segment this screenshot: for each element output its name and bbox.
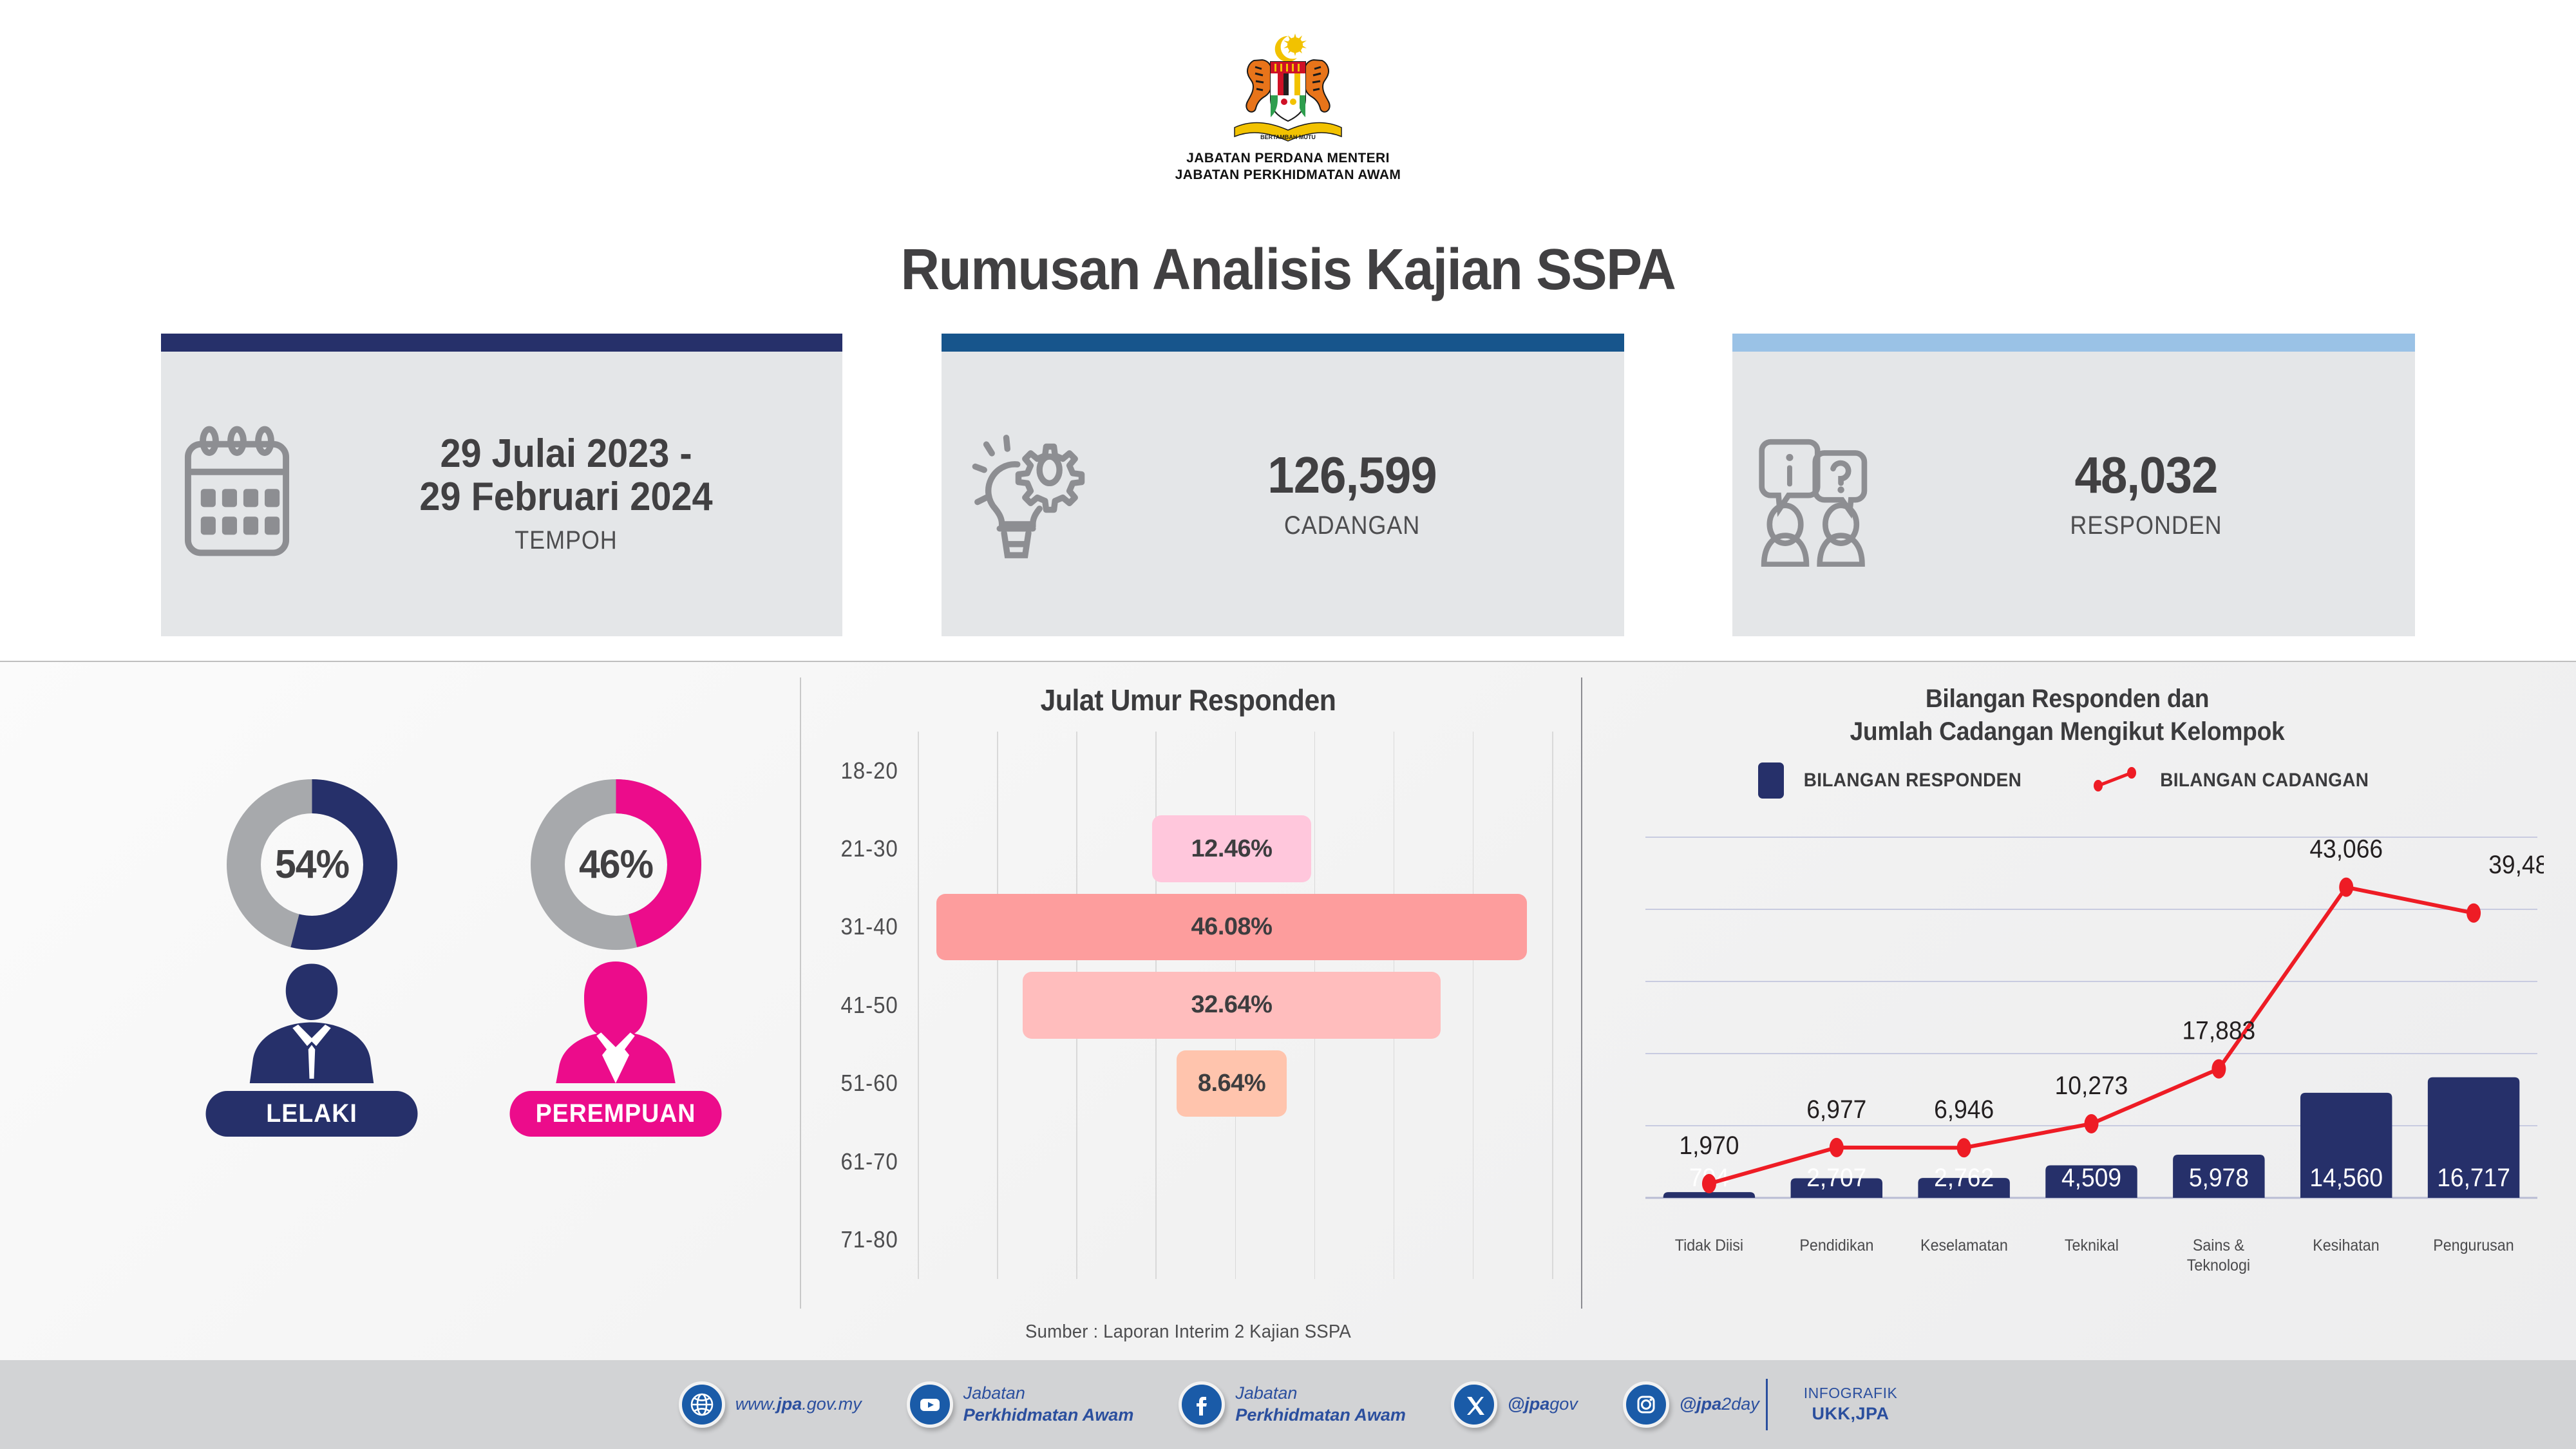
line-value-label: 17,883 (2182, 1017, 2255, 1046)
age-bar-track (911, 1122, 1552, 1200)
horizontal-divider (0, 661, 2576, 662)
age-chart-row: 18-20 (824, 732, 1552, 810)
line-data-point (2085, 1114, 2099, 1133)
bar-value-label: 16,717 (2437, 1164, 2510, 1193)
globe-icon[interactable] (679, 1381, 725, 1428)
age-bar: 46.08% (936, 894, 1527, 960)
gender-male-label: LELAKI (206, 1091, 418, 1137)
footer-youtube-line2: Perkhidmatan Awam (963, 1405, 1134, 1425)
age-bar-track (911, 732, 1552, 810)
age-chart-row: 61-70 (824, 1122, 1552, 1200)
line-data-point (1702, 1174, 1716, 1193)
legend-item-responden: BILANGAN RESPONDEN (1758, 762, 2030, 799)
footer-item-facebook[interactable]: Jabatan Perkhidmatan Awam (1179, 1381, 1406, 1428)
footer-youtube-line1: Jabatan (963, 1383, 1134, 1405)
line-value-label: 6,977 (1806, 1095, 1866, 1124)
gender-female-label: PEREMPUAN (510, 1091, 722, 1137)
age-category-label: 21-30 (831, 835, 911, 862)
category-label: Kesihatan (2287, 1236, 2405, 1275)
legend-line-marker-icon (2092, 766, 2141, 795)
line-data-point (2211, 1059, 2226, 1079)
line-value-label: 10,273 (2055, 1072, 2128, 1101)
footer-credit-line2: UKK,JPA (1804, 1403, 1898, 1425)
page-title: Rumusan Analisis Kajian SSPA (90, 237, 2486, 303)
age-bar-track: 12.46% (911, 810, 1552, 887)
age-bar: 8.64% (1177, 1050, 1287, 1117)
age-chart-rows: 18-2021-3012.46%31-4046.08%41-5032.64%51… (824, 732, 1552, 1279)
header-crest-block: BERTAMBAH MUTU JABATAN PERDANA MENTERI J… (0, 31, 2576, 183)
line-data-point (1957, 1139, 1971, 1158)
legend-label-responden: BILANGAN RESPONDEN (1804, 770, 2022, 791)
card-accent-bar (161, 334, 842, 352)
summary-cards: 29 Julai 2023 - 29 Februari 2024 TEMPOH (161, 334, 2415, 636)
org-name-line1: JABATAN PERDANA MENTERI (1186, 150, 1390, 167)
youtube-icon[interactable] (907, 1381, 953, 1428)
card-accent-bar (942, 334, 1624, 352)
category-label: Pengurusan (2414, 1236, 2533, 1275)
line-value-label: 39,484 (2488, 851, 2544, 880)
footer-item-instagram[interactable]: @jpa2day (1623, 1381, 1759, 1428)
card-label: CADANGAN (1117, 511, 1586, 540)
card-responden: 48,032 RESPONDEN (1732, 334, 2415, 636)
facebook-icon[interactable] (1179, 1381, 1225, 1428)
infographic-canvas: BERTAMBAH MUTU JABATAN PERDANA MENTERI J… (0, 0, 2576, 1449)
age-bar: 12.46% (1152, 815, 1312, 882)
donut-male-percent: 54% (231, 779, 393, 950)
gender-female-block: 46% PEREMPUAN (487, 779, 744, 1137)
age-bar-track: 32.64% (911, 966, 1552, 1044)
gridline (1552, 732, 1553, 1279)
footer-divider (1766, 1379, 1768, 1430)
age-chart-row: 71-80 (824, 1200, 1552, 1278)
card-label: TEMPOH (328, 526, 804, 555)
gender-male-block: 54% LELAKI (183, 779, 440, 1137)
footer-website-text: www.jpa.gov.my (735, 1394, 862, 1416)
category-label: Keselamatan (1905, 1236, 2023, 1275)
category-label: Pendidikan (1777, 1236, 1896, 1275)
svg-text:BERTAMBAH MUTU: BERTAMBAH MUTU (1260, 134, 1316, 140)
age-chart-row: 21-3012.46% (824, 810, 1552, 887)
source-note: Sumber : Laporan Interim 2 Kajian SSPA (842, 1321, 1534, 1343)
gender-breakdown: 54% LELAKI (155, 779, 773, 1137)
donut-chart-female: 46% (531, 779, 701, 950)
age-chart-title: Julat Umur Responden (850, 683, 1527, 717)
donut-chart-male: 54% (227, 779, 397, 950)
people-speech-bubbles-icon (1744, 422, 1889, 567)
legend-item-cadangan: BILANGAN CADANGAN (2092, 766, 2376, 795)
age-category-label: 61-70 (831, 1148, 911, 1175)
card-cadangan: 126,599 CADANGAN (942, 334, 1624, 636)
card-value: 48,032 (1907, 448, 2385, 503)
bar-value-label: 5,978 (2189, 1164, 2249, 1193)
card-value-line1: 29 Julai 2023 - (320, 433, 812, 476)
footer-item-twitter[interactable]: @jpagov (1451, 1381, 1578, 1428)
bar-value-label: 2,707 (1806, 1164, 1866, 1193)
vertical-divider-right (1581, 677, 1582, 1309)
combo-title-line1: Bilangan Responden dan (1624, 683, 2510, 715)
footer-item-website[interactable]: www.jpa.gov.my (679, 1381, 862, 1428)
age-bar-track: 8.64% (911, 1045, 1552, 1122)
legend-swatch-bar (1758, 762, 1784, 799)
line-data-point (2339, 878, 2353, 897)
x-twitter-icon[interactable] (1451, 1381, 1497, 1428)
card-tempoh: 29 Julai 2023 - 29 Februari 2024 TEMPOH (161, 334, 842, 636)
bar-value-label: 4,509 (2061, 1164, 2121, 1193)
footer-instagram-text: @jpa2day (1680, 1394, 1759, 1416)
line-data-point (2467, 904, 2481, 923)
calendar-icon (173, 425, 301, 563)
age-chart-row: 31-4046.08% (824, 888, 1552, 966)
bar-value-label: 2,762 (1934, 1164, 1994, 1193)
age-bar: 32.64% (1023, 972, 1441, 1038)
footer-credit: INFOGRAFIK UKK,JPA (1804, 1384, 1898, 1426)
instagram-icon[interactable] (1623, 1381, 1669, 1428)
age-category-label: 31-40 (831, 913, 911, 940)
footer-item-youtube[interactable]: Jabatan Perkhidmatan Awam (907, 1381, 1134, 1428)
age-chart-row: 41-5032.64% (824, 966, 1552, 1044)
age-bar-track: 46.08% (911, 888, 1552, 966)
footer-twitter-text: @jpagov (1508, 1394, 1578, 1416)
age-category-label: 41-50 (831, 992, 911, 1019)
malaysia-coat-of-arms-icon: BERTAMBAH MUTU (1207, 31, 1368, 150)
age-range-chart: Julat Umur Responden 18-2021-3012.46%31-… (824, 683, 1552, 1288)
female-avatar-icon (548, 956, 683, 1087)
bar-value-label: 14,560 (2309, 1164, 2383, 1193)
male-avatar-icon (244, 956, 379, 1087)
org-name-line2: JABATAN PERKHIDMATAN AWAM (1175, 167, 1401, 184)
vertical-divider-left (800, 677, 801, 1309)
combo-chart-legend: BILANGAN RESPONDEN BILANGAN CADANGAN (1591, 762, 2544, 799)
donut-female-percent: 46% (535, 779, 697, 950)
footer-facebook-text: Jabatan Perkhidmatan Awam (1235, 1383, 1406, 1426)
line-value-label: 43,066 (2309, 835, 2383, 864)
footer-credit-line1: INFOGRAFIK (1804, 1384, 1898, 1403)
category-label: Sains & Teknologi (2159, 1236, 2278, 1275)
category-label: Teknikal (2032, 1236, 2151, 1275)
line-data-point (1830, 1138, 1844, 1157)
footer-youtube-text: Jabatan Perkhidmatan Awam (963, 1383, 1134, 1426)
respondents-proposals-chart: Bilangan Responden dan Jumlah Cadangan M… (1591, 683, 2544, 1307)
card-value-line2: 29 Februari 2024 (320, 476, 812, 519)
age-category-label: 71-80 (831, 1226, 911, 1253)
category-label: Tidak Diisi (1650, 1236, 1768, 1275)
age-chart-row: 51-608.64% (824, 1045, 1552, 1122)
footer-bar: www.jpa.gov.my Jabatan Perkhidmatan Awam (0, 1360, 2576, 1449)
card-accent-bar (1732, 334, 2415, 352)
footer-facebook-line1: Jabatan (1235, 1383, 1406, 1405)
age-category-label: 18-20 (831, 757, 911, 784)
combo-chart-canvas: 7942,7072,7624,5095,97814,56016,7171,970… (1591, 818, 2544, 1243)
card-label: RESPONDEN (1915, 511, 2378, 540)
age-category-label: 51-60 (831, 1070, 911, 1097)
combo-chart-category-labels: Tidak DiisiPendidikanKeselamatanTeknikal… (1645, 1236, 2537, 1275)
age-bar-track (911, 1200, 1552, 1278)
card-value: 126,599 (1110, 448, 1594, 503)
legend-label-cadangan: BILANGAN CADANGAN (2160, 770, 2369, 791)
line-value-label: 6,946 (1934, 1095, 1994, 1124)
combo-title-line2: Jumlah Cadangan Mengikut Kelompok (1624, 715, 2510, 748)
footer-facebook-line2: Perkhidmatan Awam (1235, 1405, 1406, 1425)
line-value-label: 1,970 (1679, 1132, 1739, 1160)
lightbulb-gear-icon (953, 422, 1092, 567)
